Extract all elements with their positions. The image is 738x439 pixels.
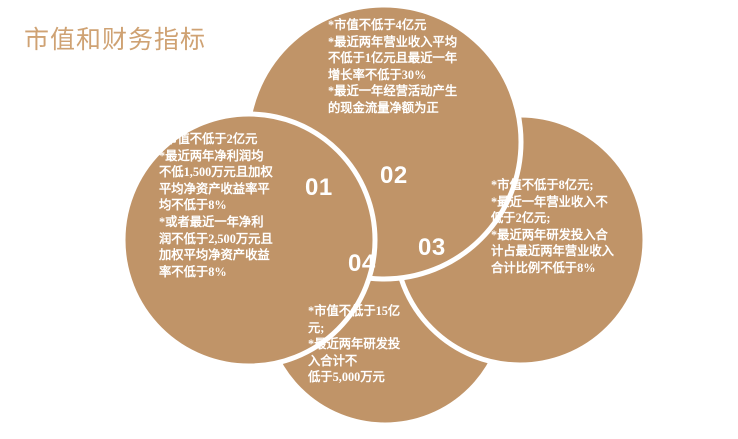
petal-text-04: *市值不低于15亿 元; *最近两年研发投 入合计不 低于5,000万元 xyxy=(308,303,418,386)
petal-number-01: 01 xyxy=(305,176,333,200)
petal-text-03: *市值不低于8亿元; *最近一年营业收入不 低于2亿元; *最近两年研发投入合 … xyxy=(491,177,639,277)
petal-number-02: 02 xyxy=(380,164,408,188)
petal-text-01: *市值不低于2亿元 *最近两年净利润均 不低1,500万元且加权 平均净资产收益… xyxy=(159,131,295,280)
slide-canvas: 市值和财务指标 01 02 03 04 *市值不低于2亿元 *最近两年净利润均 … xyxy=(0,0,738,439)
page-title: 市值和财务指标 xyxy=(24,20,206,56)
petal-text-02: *市值不低于4亿元 *最近两年营业收入平均 不低于1亿元且最近一年 增长率不低于… xyxy=(328,17,470,117)
petal-number-04: 04 xyxy=(348,252,376,276)
petal-number-03: 03 xyxy=(418,236,446,260)
